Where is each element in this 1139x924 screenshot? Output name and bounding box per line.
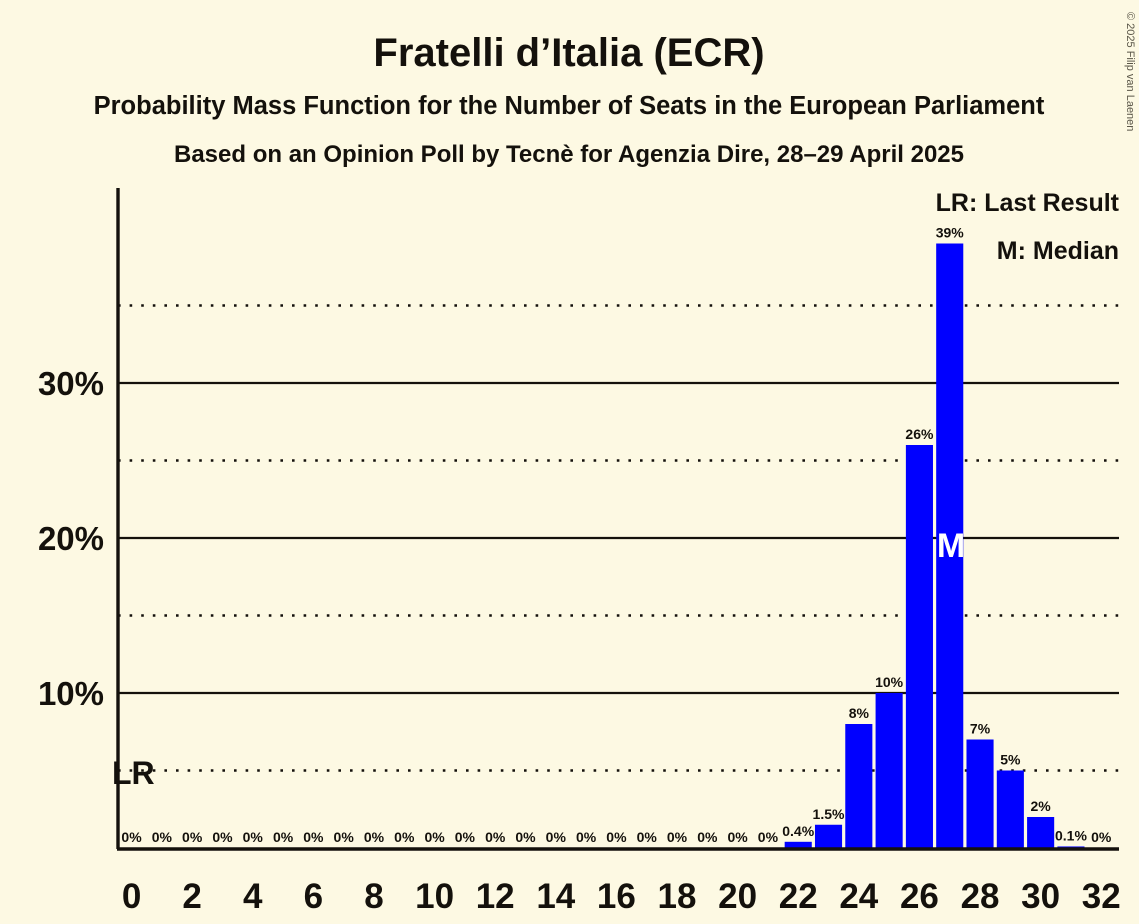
last-result-marker: LR bbox=[112, 755, 155, 791]
x-tick-label-2: 2 bbox=[182, 877, 201, 916]
bar-label-seat-21: 0% bbox=[758, 829, 779, 845]
bar-label-seat-4: 0% bbox=[243, 829, 264, 845]
x-tick-label-22: 22 bbox=[779, 877, 818, 916]
x-tick-label-10: 10 bbox=[415, 877, 454, 916]
bar-label-seat-14: 0% bbox=[546, 829, 567, 845]
bar-seat-30 bbox=[1027, 817, 1054, 848]
bar-label-seat-0: 0% bbox=[121, 829, 142, 845]
bar-label-seat-3: 0% bbox=[212, 829, 233, 845]
probability-mass-function-chart: Fratelli d’Italia (ECR) Probability Mass… bbox=[0, 0, 1139, 924]
page-title: Fratelli d’Italia (ECR) bbox=[373, 31, 764, 75]
median-marker: M bbox=[937, 527, 965, 565]
chart-subtitle: Probability Mass Function for the Number… bbox=[94, 92, 1045, 120]
bar-label-seat-2: 0% bbox=[182, 829, 203, 845]
bar-label-seat-13: 0% bbox=[515, 829, 536, 845]
bar-seat-29 bbox=[997, 771, 1024, 849]
bar-seat-26 bbox=[906, 445, 933, 848]
bar-label-seat-10: 0% bbox=[424, 829, 445, 845]
bar-label-seat-12: 0% bbox=[485, 829, 506, 845]
bar-label-seat-22: 0.4% bbox=[782, 823, 814, 839]
x-tick-label-28: 28 bbox=[961, 877, 1000, 916]
bar-label-seat-16: 0% bbox=[606, 829, 627, 845]
bar-label-seat-23: 1.5% bbox=[813, 806, 845, 822]
bar-label-seat-20: 0% bbox=[727, 829, 748, 845]
bar-label-seat-32: 0% bbox=[1091, 829, 1112, 845]
bar-label-seat-26: 26% bbox=[905, 426, 934, 442]
copyright-notice: © 2025 Filip van Laenen bbox=[1124, 12, 1136, 131]
legend-median: M: Median bbox=[997, 237, 1119, 265]
x-tick-label-18: 18 bbox=[658, 877, 697, 916]
bar-seat-23 bbox=[815, 825, 842, 848]
x-tick-label-24: 24 bbox=[839, 877, 878, 916]
legend-last-result: LR: Last Result bbox=[936, 189, 1120, 217]
y-tick-label-30: 30% bbox=[38, 365, 104, 402]
bar-label-seat-31: 0.1% bbox=[1055, 827, 1087, 843]
bar-label-seat-15: 0% bbox=[576, 829, 597, 845]
bar-label-seat-17: 0% bbox=[637, 829, 658, 845]
bar-label-seat-24: 8% bbox=[849, 705, 870, 721]
chart-source-line: Based on an Opinion Poll by Tecnè for Ag… bbox=[174, 141, 964, 168]
y-tick-label-20: 20% bbox=[38, 520, 104, 557]
bar-label-seat-19: 0% bbox=[697, 829, 718, 845]
x-tick-label-26: 26 bbox=[900, 877, 939, 916]
x-tick-label-8: 8 bbox=[364, 877, 383, 916]
y-tick-label-10: 10% bbox=[38, 675, 104, 712]
bar-label-seat-28: 7% bbox=[970, 721, 991, 737]
bar-label-seat-25: 10% bbox=[875, 674, 904, 690]
x-tick-label-30: 30 bbox=[1021, 877, 1060, 916]
bar-seat-24 bbox=[845, 724, 872, 848]
x-tick-label-20: 20 bbox=[718, 877, 757, 916]
bar-label-seat-11: 0% bbox=[455, 829, 476, 845]
bar-seat-22 bbox=[785, 842, 812, 848]
bar-seat-25 bbox=[876, 693, 903, 848]
bar-label-seat-5: 0% bbox=[273, 829, 294, 845]
x-tick-label-0: 0 bbox=[122, 877, 141, 916]
bar-label-seat-27: 39% bbox=[936, 225, 965, 241]
bar-seat-28 bbox=[966, 740, 993, 849]
x-tick-label-4: 4 bbox=[243, 877, 263, 916]
bar-label-seat-9: 0% bbox=[394, 829, 415, 845]
x-tick-label-6: 6 bbox=[304, 877, 323, 916]
bar-label-seat-30: 2% bbox=[1031, 798, 1052, 814]
x-tick-label-16: 16 bbox=[597, 877, 636, 916]
bar-label-seat-18: 0% bbox=[667, 829, 688, 845]
bar-label-seat-6: 0% bbox=[303, 829, 324, 845]
bar-label-seat-7: 0% bbox=[334, 829, 355, 845]
x-tick-label-14: 14 bbox=[536, 877, 575, 916]
x-tick-label-12: 12 bbox=[476, 877, 515, 916]
bar-label-seat-8: 0% bbox=[364, 829, 385, 845]
bar-label-seat-29: 5% bbox=[1000, 752, 1021, 768]
x-tick-label-32: 32 bbox=[1082, 877, 1121, 916]
bar-label-seat-1: 0% bbox=[152, 829, 173, 845]
